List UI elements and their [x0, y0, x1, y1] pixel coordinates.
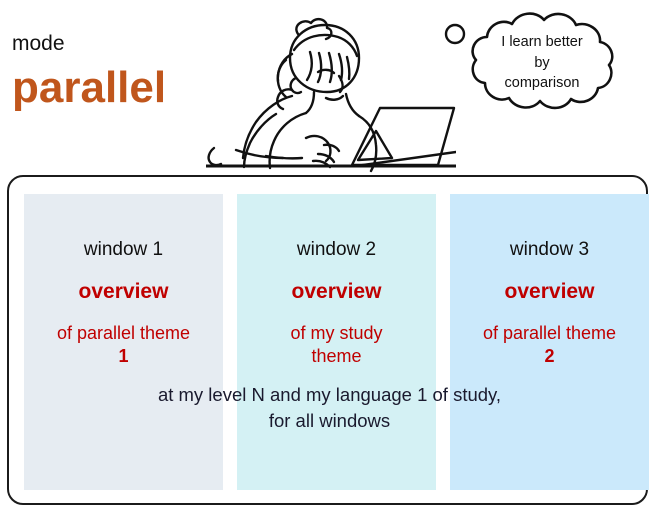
- window-1-heading: overview: [24, 280, 223, 304]
- person-at-laptop-icon: [206, 0, 456, 178]
- caption-line-1: at my level N and my language 1 of study…: [24, 382, 635, 408]
- window-1-title: window 1: [24, 239, 223, 261]
- header: mode parallel: [0, 0, 656, 176]
- thought-bubble-text: I learn better by comparison: [466, 32, 618, 94]
- window-2-sub-line1: of my study: [290, 323, 382, 343]
- thought-line-2: by: [466, 53, 618, 74]
- window-1-sub-line1: of parallel theme: [57, 323, 190, 343]
- window-3-sub-line1: of parallel theme: [483, 323, 616, 343]
- window-1-subtitle: of parallel theme 1: [24, 322, 223, 368]
- window-panel-2[interactable]: window 2 overview of my study theme: [237, 194, 436, 490]
- window-3-sub-line2: 2: [450, 345, 649, 368]
- window-panel-3[interactable]: window 3 overview of parallel theme 2: [450, 194, 649, 490]
- thought-line-1: I learn better: [466, 32, 618, 53]
- windows-caption: at my level N and my language 1 of study…: [24, 382, 635, 435]
- window-1-sub-line2: 1: [24, 345, 223, 368]
- window-panel-1[interactable]: window 1 overview of parallel theme 1: [24, 194, 223, 490]
- mode-label: mode: [12, 32, 65, 56]
- window-3-heading: overview: [450, 280, 649, 304]
- window-2-subtitle: of my study theme: [237, 322, 436, 368]
- window-2-title: window 2: [237, 239, 436, 261]
- window-3-title: window 3: [450, 239, 649, 261]
- caption-line-2: for all windows: [24, 408, 635, 434]
- windows-row: window 1 overview of parallel theme 1 wi…: [24, 194, 635, 490]
- mode-value: parallel: [12, 66, 166, 110]
- window-2-heading: overview: [237, 280, 436, 304]
- mode-box: window 1 overview of parallel theme 1 wi…: [7, 175, 648, 505]
- thought-line-3: comparison: [466, 73, 618, 94]
- window-3-subtitle: of parallel theme 2: [450, 322, 649, 368]
- window-2-sub-line2: theme: [237, 345, 436, 368]
